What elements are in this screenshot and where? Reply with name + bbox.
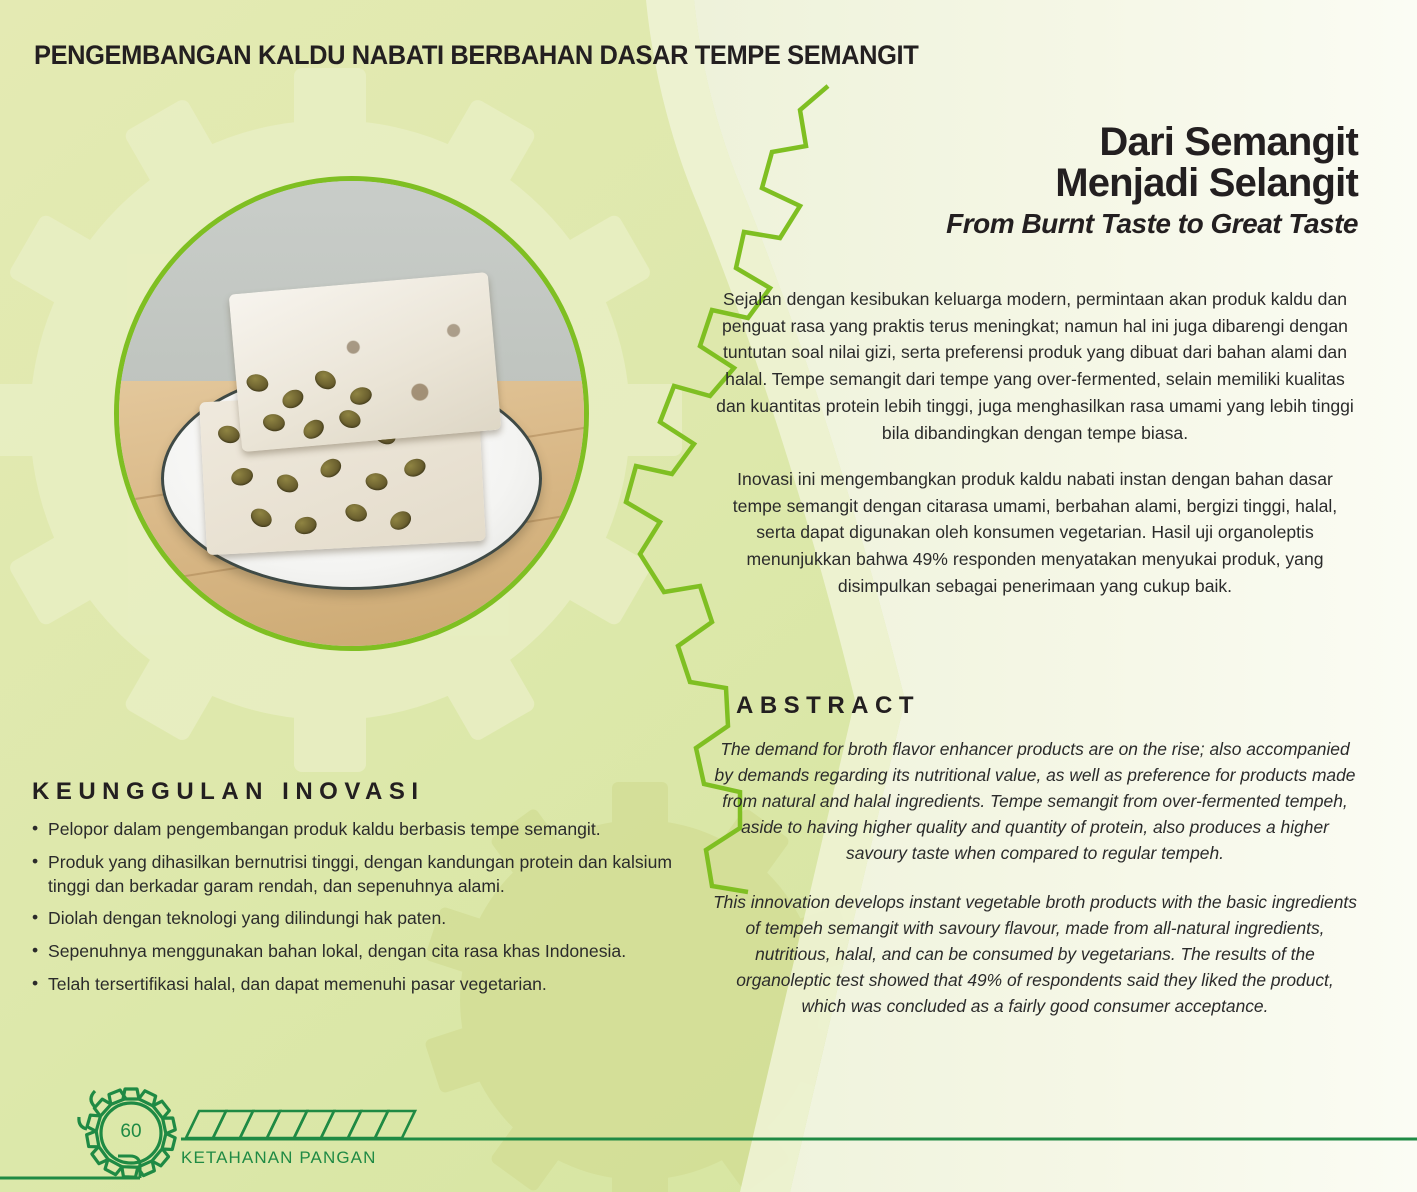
abstract-paragraph-1: The demand for broth flavor enhancer pro… [712, 736, 1358, 867]
hero-title-line1: Dari Semangit [946, 122, 1358, 163]
photo-tempe-slice-top [229, 272, 502, 452]
intro-paragraph-1: Sejalan dengan kesibukan keluarga modern… [712, 286, 1358, 446]
poster-page: PENGEMBANGAN KALDU NABATI BERBAHAN DASAR… [0, 0, 1417, 1192]
hero-title-block: Dari Semangit Menjadi Selangit From Burn… [946, 122, 1358, 240]
list-item: Diolah dengan teknologi yang dilindungi … [32, 907, 692, 931]
list-item: Produk yang dihasilkan bernutrisi tinggi… [32, 851, 692, 899]
list-item: Pelopor dalam pengembangan produk kaldu … [32, 818, 692, 842]
photo-soybeans-top [229, 272, 502, 452]
list-item: Telah tersertifikasi halal, dan dapat me… [32, 973, 692, 997]
product-photo-scene [119, 181, 584, 646]
abstract-heading: ABSTRACT [736, 692, 920, 720]
advantages-heading: KEUNGGULAN INOVASI [32, 778, 692, 806]
page-number: 60 [108, 1121, 154, 1143]
product-photo [114, 176, 589, 651]
advantages-section: KEUNGGULAN INOVASI Pelopor dalam pengemb… [32, 778, 692, 1006]
hero-subtitle: From Burnt Taste to Great Taste [946, 208, 1358, 240]
advantages-list: Pelopor dalam pengembangan produk kaldu … [32, 818, 692, 997]
right-column: Dari Semangit Menjadi Selangit From Burn… [712, 0, 1380, 1192]
list-item: Sepenuhnya menggunakan bahan lokal, deng… [32, 940, 692, 964]
intro-paragraph-2: Inovasi ini mengembangkan produk kaldu n… [712, 466, 1358, 600]
abstract-paragraph-2: This innovation develops instant vegetab… [712, 889, 1358, 1020]
footer-category: KETAHANAN PANGAN [181, 1148, 377, 1168]
hero-title-line2: Menjadi Selangit [946, 163, 1358, 204]
